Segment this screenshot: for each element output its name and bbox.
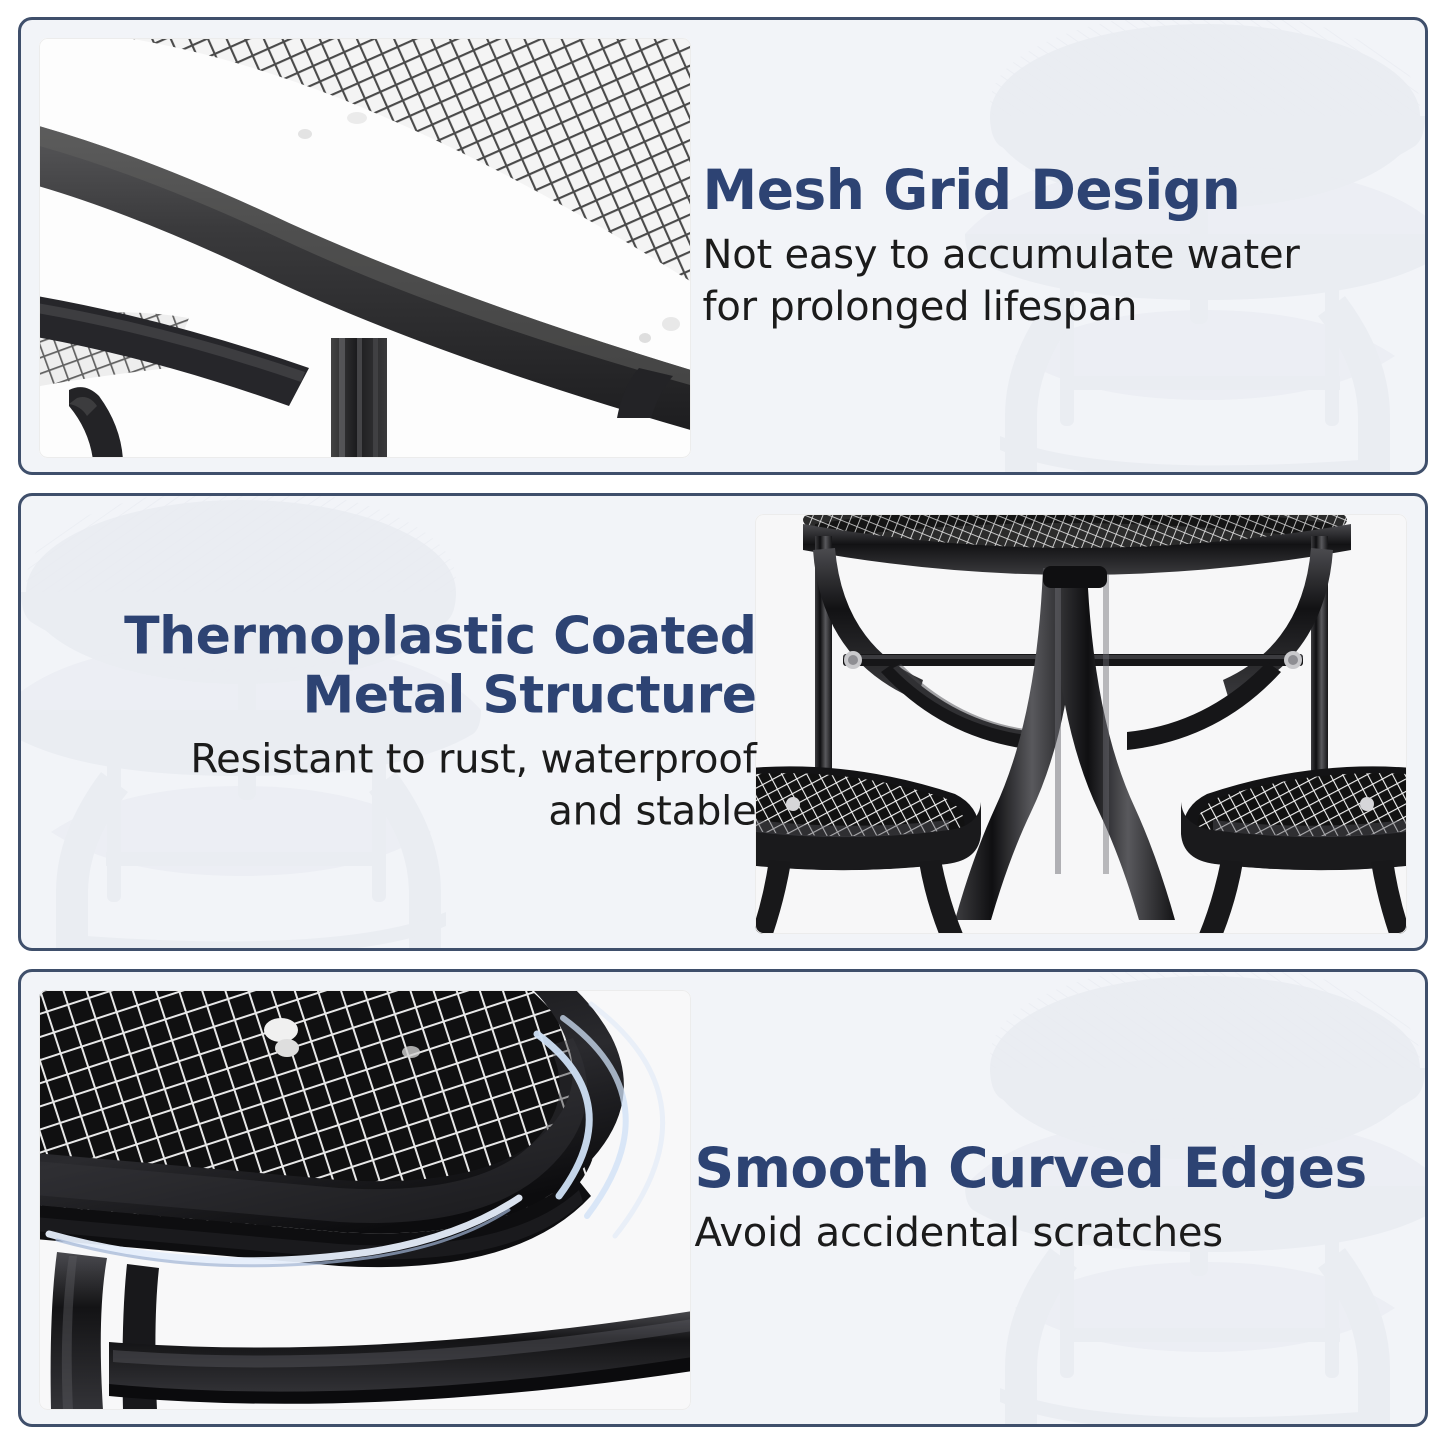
- photo-smooth-curved-edge-corner: [39, 990, 691, 1410]
- feature-text-block-3: Smooth Curved Edges Avoid accidental scr…: [695, 1137, 1395, 1259]
- feature-panel-thermoplastic-coated-metal-structure: Thermoplastic Coated Metal Structure Res…: [18, 493, 1428, 951]
- feature-headline-2: Thermoplastic Coated Metal Structure: [47, 607, 757, 725]
- feature-panel-smooth-curved-edges: Smooth Curved Edges Avoid accidental scr…: [18, 969, 1428, 1427]
- feature-subline-1: Not easy to accumulate water for prolong…: [703, 229, 1403, 333]
- feature-subline-3: Avoid accidental scratches: [695, 1207, 1395, 1259]
- photo-thermoplastic-metal-frame: [755, 514, 1407, 934]
- feature-headline-1: Mesh Grid Design: [703, 159, 1403, 221]
- product-feature-infographic: Mesh Grid Design Not easy to accumulate …: [0, 0, 1445, 1445]
- feature-panel-mesh-grid-design: Mesh Grid Design Not easy to accumulate …: [18, 17, 1428, 475]
- feature-text-block-1: Mesh Grid Design Not easy to accumulate …: [703, 159, 1403, 333]
- feature-subline-2: Resistant to rust, waterproof and stable: [47, 733, 757, 837]
- feature-text-block-2: Thermoplastic Coated Metal Structure Res…: [47, 607, 757, 837]
- feature-headline-3: Smooth Curved Edges: [695, 1137, 1395, 1199]
- photo-mesh-grid-tabletop: [39, 38, 691, 458]
